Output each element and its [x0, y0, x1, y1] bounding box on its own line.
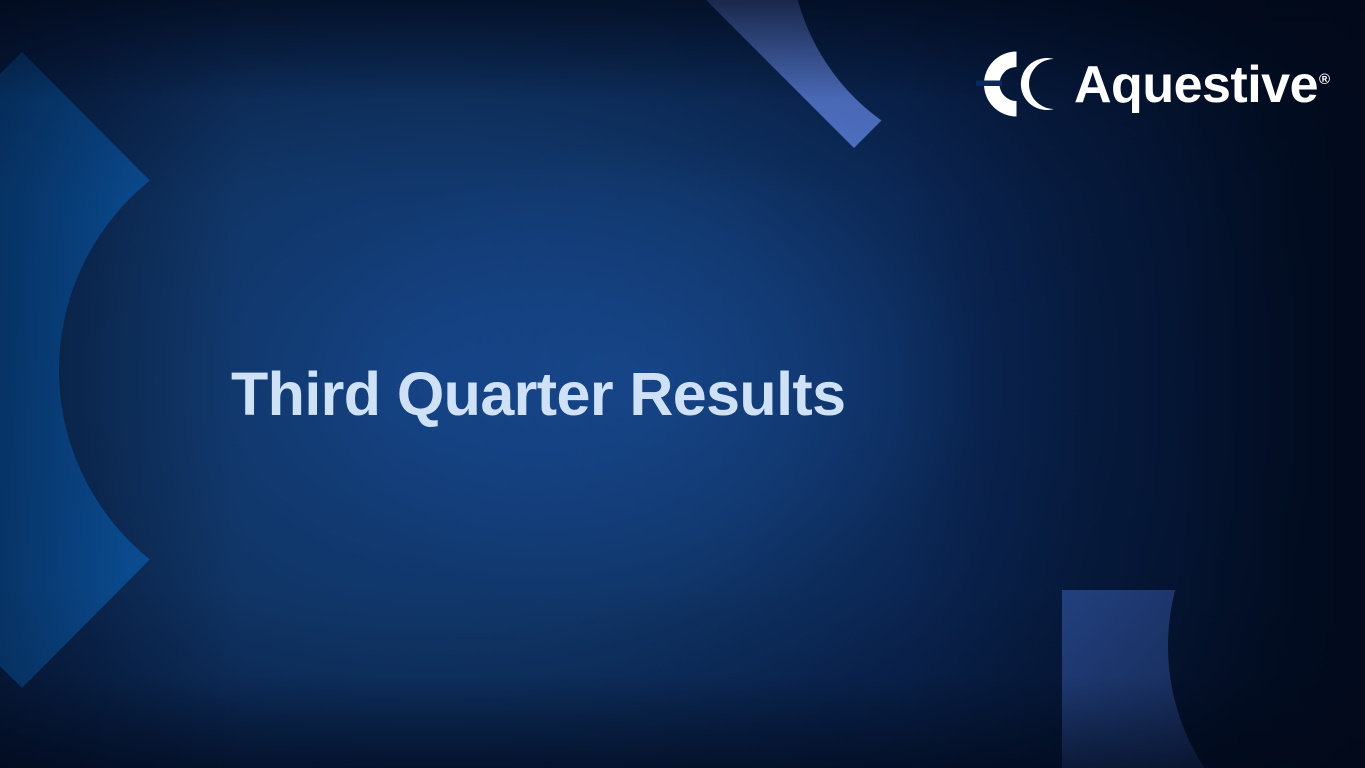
aquestive-wordmark: Aquestive® [1074, 57, 1330, 111]
aquestive-logo: Aquestive® [975, 44, 1320, 124]
aquestive-double-c-mark-icon [975, 50, 1057, 118]
registered-trademark-symbol: ® [1319, 71, 1330, 88]
brand-name: Aquestive [1074, 56, 1318, 114]
slide-title: Third Quarter Results [231, 362, 845, 428]
presentation-slide: Aquestive® Third Quarter Results [0, 0, 1365, 768]
